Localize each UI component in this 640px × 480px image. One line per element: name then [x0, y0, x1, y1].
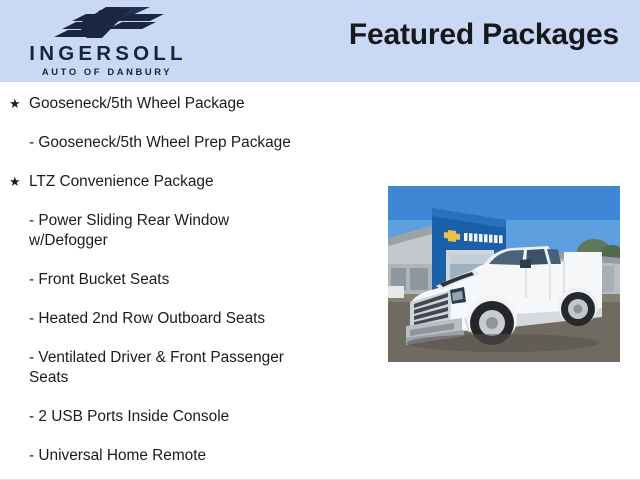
package-sub-item: - Gooseneck/5th Wheel Prep Package [0, 133, 380, 153]
vehicle-photo [388, 186, 620, 362]
star-bullet-icon: ★ [9, 172, 21, 192]
star-bullet-icon: ★ [9, 94, 21, 114]
dealer-logo-tagline: AUTO OF DANBURY [0, 67, 212, 76]
package-item-label: - 2 USB Ports Inside Console [29, 407, 380, 427]
package-item-label: - Power Sliding Rear Window w/Defogger [29, 211, 380, 251]
feature-list: ★Gooseneck/5th Wheel Package- Gooseneck/… [0, 82, 380, 466]
package-item-label: - Gooseneck/5th Wheel Prep Package [29, 133, 380, 153]
package-sub-item: - Front Bucket Seats [0, 270, 380, 290]
package-sub-item: - Power Sliding Rear Window w/Defogger [0, 211, 380, 251]
package-sub-item: - Ventilated Driver & Front Passenger Se… [0, 348, 380, 388]
dealer-logo: INGERSOLL AUTO OF DANBURY [0, 2, 212, 80]
package-item-label: Gooseneck/5th Wheel Package [29, 94, 380, 114]
package-item-label: - Heated 2nd Row Outboard Seats [29, 309, 380, 329]
package-item-label: - Ventilated Driver & Front Passenger Se… [29, 348, 380, 388]
package-sub-item: - Universal Home Remote [0, 446, 380, 466]
package-sub-item: - 2 USB Ports Inside Console [0, 407, 380, 427]
package-sub-item: - Heated 2nd Row Outboard Seats [0, 309, 380, 329]
package-item-label: - Universal Home Remote [29, 446, 380, 466]
winged-emblem-icon [46, 6, 168, 40]
page-title: Featured Packages [349, 18, 619, 52]
dealer-logo-name: INGERSOLL [0, 44, 212, 65]
package-item: ★LTZ Convenience Package [0, 172, 380, 192]
package-item: ★Gooseneck/5th Wheel Package [0, 94, 380, 114]
package-item-label: - Front Bucket Seats [29, 270, 380, 290]
package-item-label: LTZ Convenience Package [29, 172, 380, 192]
